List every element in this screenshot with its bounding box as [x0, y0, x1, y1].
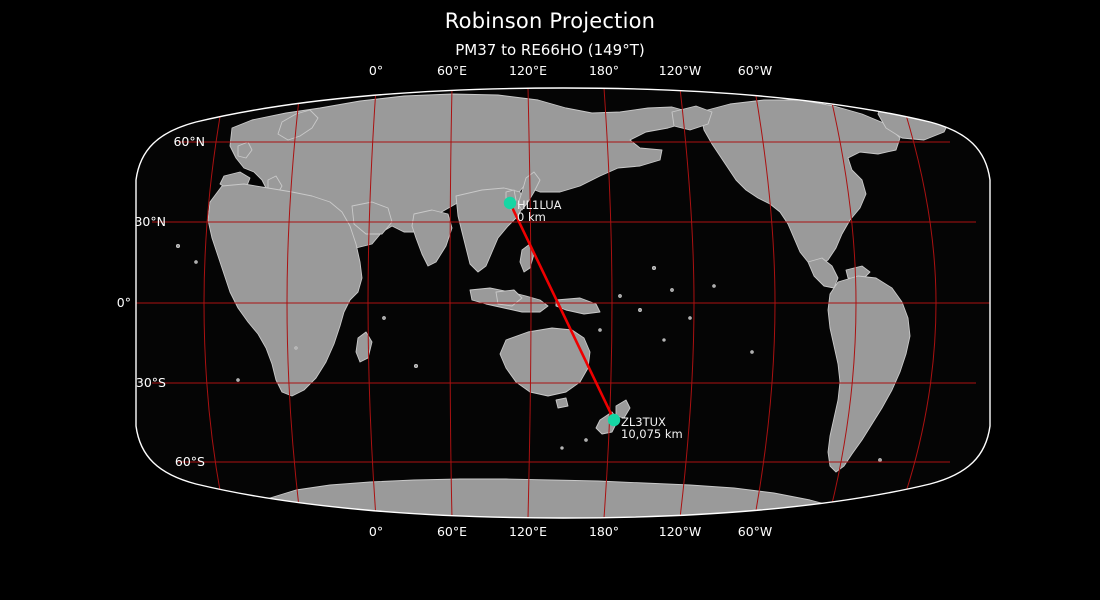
station-distance-destination: 10,075 km: [621, 428, 683, 441]
lon-tick-top-5: 60°W: [738, 64, 773, 78]
land-island: [295, 347, 297, 349]
land-island: [652, 266, 655, 269]
land-island: [599, 329, 602, 332]
lon-tick-bottom-0: 0°: [369, 525, 383, 539]
land-island: [689, 317, 692, 320]
lat-tick-30s: 30°S: [101, 376, 166, 390]
lon-tick-top-3: 180°: [589, 64, 619, 78]
land-island: [585, 439, 588, 442]
land-island: [639, 309, 642, 312]
robinson-map: [0, 0, 1100, 600]
lon-tick-bottom-2: 120°E: [509, 525, 547, 539]
land-island: [751, 351, 754, 354]
figure-canvas: Robinson Projection PM37 to RE66HO (149°…: [0, 0, 1100, 600]
land-island: [619, 295, 622, 298]
lon-tick-bottom-4: 120°W: [659, 525, 701, 539]
lat-tick-0: 0°: [66, 296, 131, 310]
lon-tick-bottom-1: 60°E: [437, 525, 467, 539]
lon-tick-top-4: 120°W: [659, 64, 701, 78]
land-tasmania: [556, 398, 568, 408]
land-island: [663, 339, 665, 341]
lat-tick-30n: 30°N: [101, 215, 166, 229]
land-island: [561, 447, 563, 449]
lon-tick-bottom-3: 180°: [589, 525, 619, 539]
lon-tick-top-1: 60°E: [437, 64, 467, 78]
marker-origin[interactable]: [504, 197, 516, 209]
lon-tick-top-0: 0°: [369, 64, 383, 78]
land-island: [671, 289, 674, 292]
land-island: [414, 364, 417, 367]
land-island: [879, 459, 882, 462]
lon-tick-top-2: 120°E: [509, 64, 547, 78]
lon-tick-bottom-5: 60°W: [738, 525, 773, 539]
land-island: [237, 379, 240, 382]
lat-tick-60n: 60°N: [140, 135, 205, 149]
marker-destination[interactable]: [608, 414, 620, 426]
lat-tick-60s: 60°S: [140, 455, 205, 469]
station-distance-origin: 0 km: [517, 211, 546, 224]
land-island: [713, 285, 716, 288]
land-island: [383, 317, 386, 320]
land-island: [195, 261, 198, 264]
land-island: [176, 244, 179, 247]
